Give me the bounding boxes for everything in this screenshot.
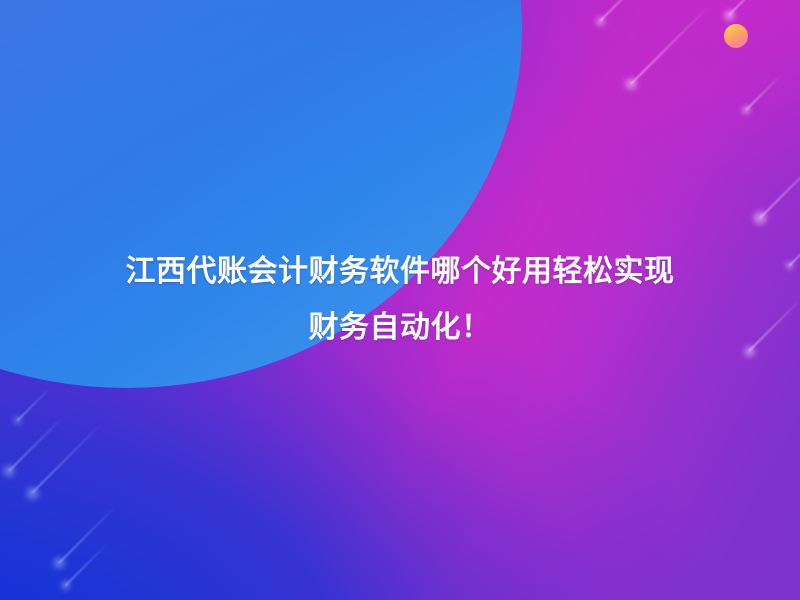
headline-line-1: 江西代账会计财务软件哪个好用轻松实现 [0, 244, 800, 300]
headline-line-2: 财务自动化！ [0, 300, 800, 356]
orange-accent-dot-icon [724, 24, 748, 48]
banner-canvas: 江西代账会计财务软件哪个好用轻松实现 财务自动化！ [0, 0, 800, 600]
headline-block: 江西代账会计财务软件哪个好用轻松实现 财务自动化！ [0, 244, 800, 356]
